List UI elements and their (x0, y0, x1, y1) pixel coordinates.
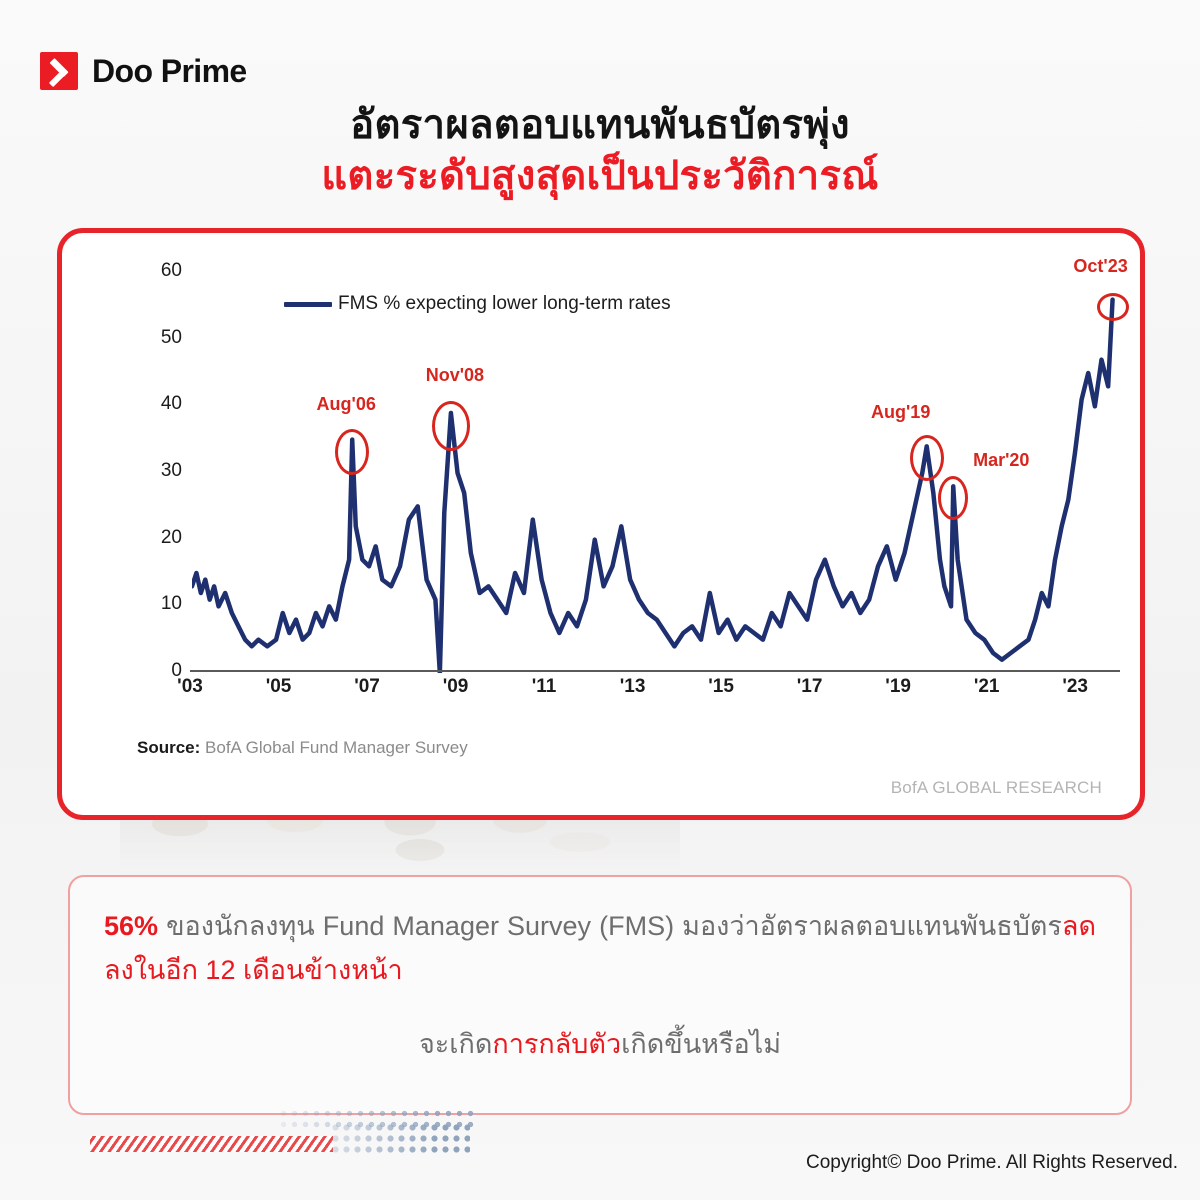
x-axis-tick-label: '23 (1062, 676, 1088, 698)
question-gray-2: เกิดขึ้นหรือไม่ (621, 1029, 781, 1059)
chart-plot (192, 273, 1117, 673)
annotation-ring (335, 429, 369, 475)
statement-question: จะเกิดการกลับตัวเกิดขึ้นหรือไม่ (104, 1026, 1096, 1064)
y-axis: 0102030405060 (134, 233, 182, 815)
source-text: BofA Global Fund Manager Survey (200, 738, 467, 757)
copyright-text: Copyright© Doo Prime. All Rights Reserve… (806, 1152, 1178, 1174)
statement-box: 56% ของนักลงทุน Fund Manager Survey (FMS… (68, 875, 1132, 1115)
brand-name: Doo Prime (92, 53, 247, 90)
x-axis: '03'05'07'09'11'13'15'17'19'21'23 (190, 676, 1120, 706)
annotation-ring (938, 476, 968, 520)
annotation-label: Aug'19 (871, 402, 930, 423)
decor-dot-grid (330, 1122, 470, 1154)
statement-percent: 56% (104, 911, 158, 941)
x-axis-tick-label: '05 (266, 676, 292, 698)
chart-card: 0102030405060 FMS % expecting lower long… (57, 228, 1145, 820)
annotation-label: Mar'20 (973, 450, 1029, 471)
y-axis-tick-label: 40 (136, 393, 182, 415)
research-watermark: BofA GLOBAL RESEARCH (891, 778, 1102, 798)
annotation-ring (1097, 293, 1129, 321)
annotation-label: Oct'23 (1073, 256, 1127, 277)
brand-logo: Doo Prime (40, 52, 247, 90)
x-axis-tick-label: '11 (532, 676, 557, 698)
source-prefix: Source: (137, 738, 200, 757)
y-axis-tick-label: 0 (136, 660, 182, 682)
annotation-ring (432, 401, 470, 451)
headline-line-2: แตะระดับสูงสุดเป็นประวัติการณ์ (0, 151, 1200, 202)
x-axis-tick-label: '19 (885, 676, 911, 698)
line-chart-svg (192, 273, 1117, 673)
headline-line-1: อัตราผลตอบแทนพันธบัตรพุ่ง (0, 100, 1200, 151)
question-gray-1: จะเกิด (419, 1029, 492, 1059)
annotation-ring (910, 435, 944, 481)
x-axis-tick-label: '17 (797, 676, 823, 698)
x-axis-line (190, 670, 1120, 672)
data-series-line (192, 300, 1113, 673)
doo-prime-mark-icon (40, 52, 78, 90)
y-axis-tick-label: 10 (136, 593, 182, 615)
x-axis-tick-label: '15 (708, 676, 734, 698)
x-axis-tick-label: '09 (443, 676, 469, 698)
x-axis-tick-label: '03 (177, 676, 203, 698)
y-axis-tick-label: 20 (136, 527, 182, 549)
question-red: การกลับตัว (492, 1029, 621, 1059)
y-axis-tick-label: 30 (136, 460, 182, 482)
y-axis-tick-label: 60 (136, 260, 182, 282)
x-axis-tick-label: '07 (354, 676, 380, 698)
statement-gray-1: ของนักลงทุน Fund Manager Survey (FMS) มอ… (158, 911, 1062, 941)
annotation-label: Aug'06 (317, 394, 376, 415)
annotation-label: Nov'08 (426, 365, 484, 386)
statement-paragraph: 56% ของนักลงทุน Fund Manager Survey (FMS… (104, 905, 1096, 992)
chart-area: 0102030405060 FMS % expecting lower long… (62, 233, 1140, 815)
chart-source: Source: BofA Global Fund Manager Survey (137, 738, 468, 758)
decor-hatch-bar (90, 1136, 333, 1152)
x-axis-tick-label: '13 (620, 676, 646, 698)
y-axis-tick-label: 50 (136, 327, 182, 349)
x-axis-tick-label: '21 (974, 676, 1000, 698)
headline: อัตราผลตอบแทนพันธบัตรพุ่ง แตะระดับสูงสุด… (0, 100, 1200, 202)
